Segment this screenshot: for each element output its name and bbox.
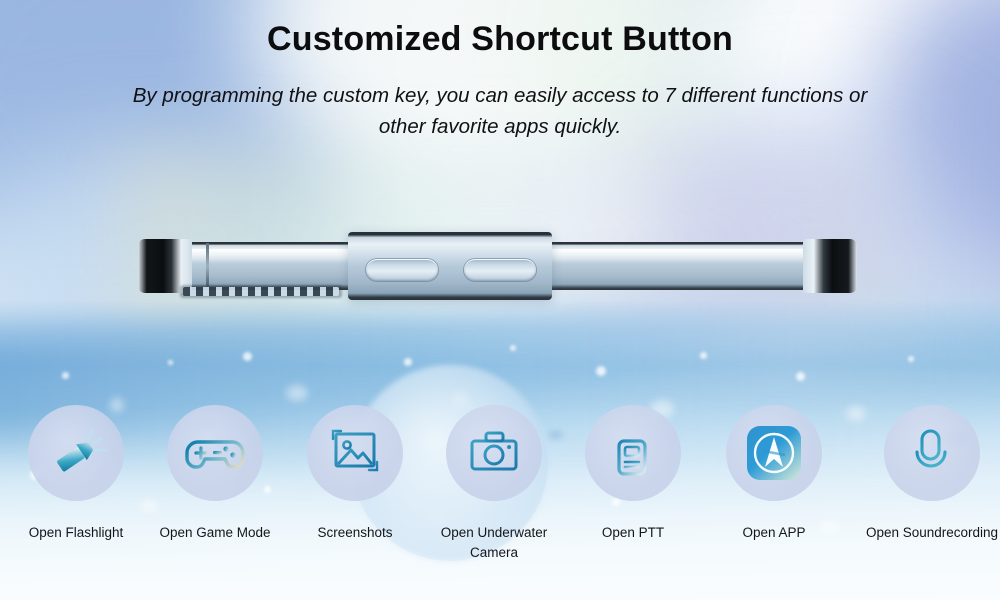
feature-item-app[interactable]: Open APP (704, 405, 844, 543)
feature-label: Open Underwater Camera (424, 523, 564, 563)
icon-disc (884, 405, 980, 501)
poster-canvas: Customized Shortcut Button By programmin… (0, 0, 1000, 600)
phone-illustration (0, 195, 1000, 355)
feature-label: Open Flashlight (6, 523, 146, 543)
page-title: Customized Shortcut Button (0, 20, 1000, 59)
droplet (796, 372, 805, 381)
droplet (62, 372, 69, 379)
icon-disc (446, 405, 542, 501)
side-key-upper[interactable] (366, 259, 438, 281)
side-key-lower[interactable] (464, 259, 536, 281)
icon-disc (28, 405, 124, 501)
feature-item-soundrecording[interactable]: Open Soundrecording (862, 405, 1000, 543)
feature-item-game-mode[interactable]: Open Game Mode (145, 405, 285, 543)
droplet (404, 358, 412, 366)
icon-disc (307, 405, 403, 501)
droplet (908, 356, 914, 362)
feature-label: Open PTT (563, 523, 703, 543)
app-store-icon (744, 423, 804, 483)
icon-disc (585, 405, 681, 501)
feature-item-flashlight[interactable]: Open Flashlight (6, 405, 146, 543)
droplet (286, 385, 308, 401)
camera-icon (463, 422, 525, 484)
screenshot-icon (324, 422, 386, 484)
feature-item-underwater-camera[interactable]: Open Underwater Camera (424, 405, 564, 563)
icon-disc (167, 405, 263, 501)
feature-label: Screenshots (285, 523, 425, 543)
droplet (596, 366, 606, 376)
speaker-grille (183, 287, 339, 296)
feature-label: Open APP (704, 523, 844, 543)
flashlight-icon (45, 422, 107, 484)
phone-antenna-seam (206, 243, 209, 289)
page-subtitle: By programming the custom key, you can e… (118, 80, 882, 142)
feature-item-screenshots[interactable]: Screenshots (285, 405, 425, 543)
feature-label: Open Game Mode (145, 523, 285, 543)
feature-row: Open Flashlight (0, 405, 1000, 595)
phone-corner-right (803, 239, 857, 293)
feature-label: Open Soundrecording (862, 523, 1000, 543)
microphone-icon (903, 424, 961, 482)
walkie-talkie-icon (602, 422, 664, 484)
feature-item-ptt[interactable]: Open PTT (563, 405, 703, 543)
droplet (168, 360, 173, 365)
gamepad-icon (182, 420, 248, 486)
icon-disc (726, 405, 822, 501)
